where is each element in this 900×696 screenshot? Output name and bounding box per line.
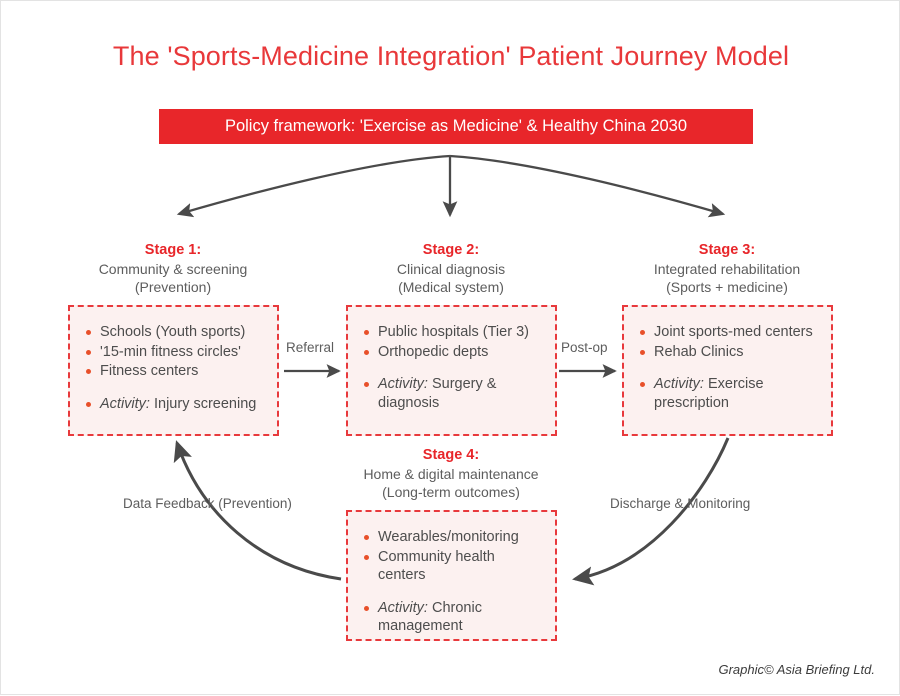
stage-3-subtitle-line2: (Sports + medicine) xyxy=(621,278,833,296)
connector-label-referral: Referral xyxy=(286,340,334,355)
connector-label-discharge: Discharge & Monitoring xyxy=(610,496,750,511)
stage-1-heading: Stage 1: Community & screening (Preventi… xyxy=(68,241,278,296)
stage-1-number: Stage 1: xyxy=(68,241,278,260)
list-item: Community health centers xyxy=(362,548,545,585)
stage-1-activity: Activity: Injury screening xyxy=(84,395,267,414)
stage-4-subtitle-line2: (Long-term outcomes) xyxy=(336,483,566,501)
list-item: Rehab Clinics xyxy=(638,343,821,362)
credit-line: Graphic© Asia Briefing Ltd. xyxy=(718,662,875,677)
list-item: Joint sports-med centers xyxy=(638,323,821,342)
arrow-stage4-to-stage1 xyxy=(177,443,341,579)
stage-4-number: Stage 4: xyxy=(336,446,566,465)
diagram-canvas: The 'Sports-Medicine Integration' Patien… xyxy=(0,0,900,695)
list-item: Wearables/monitoring xyxy=(362,528,545,547)
arrow-banner-to-stage3 xyxy=(450,156,723,214)
stage-3-heading: Stage 3: Integrated rehabilitation (Spor… xyxy=(621,241,833,296)
stage-2-heading: Stage 2: Clinical diagnosis (Medical sys… xyxy=(346,241,556,296)
activity-text: Injury screening xyxy=(150,396,256,412)
list-item: Orthopedic depts xyxy=(362,343,545,362)
stage-2-subtitle-line2: (Medical system) xyxy=(346,278,556,296)
policy-framework-banner: Policy framework: 'Exercise as Medicine'… xyxy=(159,109,753,144)
list-item: Fitness centers xyxy=(84,362,267,381)
connector-label-data-feedback: Data Feedback (Prevention) xyxy=(123,496,292,511)
list-item: '15-min fitness circles' xyxy=(84,343,267,362)
page-title: The 'Sports-Medicine Integration' Patien… xyxy=(1,41,900,72)
stage-3-activity: Activity: Exercise prescription xyxy=(638,375,821,412)
stage-4-subtitle-line1: Home & digital maintenance xyxy=(336,465,566,483)
activity-label: Activity: xyxy=(654,376,704,392)
stage-1-subtitle-line2: (Prevention) xyxy=(68,278,278,296)
stage-4-list: Wearables/monitoring Community health ce… xyxy=(362,528,545,636)
stage-2-activity: Activity: Surgery & diagnosis xyxy=(362,375,545,412)
stage-3-box[interactable]: Joint sports-med centers Rehab Clinics A… xyxy=(622,305,833,436)
policy-framework-label: Policy framework: 'Exercise as Medicine'… xyxy=(225,117,687,136)
stage-3-number: Stage 3: xyxy=(621,241,833,260)
arrow-banner-to-stage1 xyxy=(179,156,450,214)
activity-label: Activity: xyxy=(100,396,150,412)
stage-4-heading: Stage 4: Home & digital maintenance (Lon… xyxy=(336,446,566,501)
list-item: Public hospitals (Tier 3) xyxy=(362,323,545,342)
activity-label: Activity: xyxy=(378,600,428,616)
stage-1-subtitle-line1: Community & screening xyxy=(68,260,278,278)
activity-label: Activity: xyxy=(378,376,428,392)
stage-2-box[interactable]: Public hospitals (Tier 3) Orthopedic dep… xyxy=(346,305,557,436)
list-item: Schools (Youth sports) xyxy=(84,323,267,342)
stage-2-number: Stage 2: xyxy=(346,241,556,260)
stage-1-box[interactable]: Schools (Youth sports) '15-min fitness c… xyxy=(68,305,279,436)
stage-1-list: Schools (Youth sports) '15-min fitness c… xyxy=(84,323,267,413)
stage-4-box[interactable]: Wearables/monitoring Community health ce… xyxy=(346,510,557,641)
connector-label-post-op: Post-op xyxy=(561,340,608,355)
stage-2-list: Public hospitals (Tier 3) Orthopedic dep… xyxy=(362,323,545,412)
stage-4-activity: Activity: Chronic management xyxy=(362,599,545,636)
stage-3-list: Joint sports-med centers Rehab Clinics A… xyxy=(638,323,821,412)
stage-3-subtitle-line1: Integrated rehabilitation xyxy=(621,260,833,278)
stage-2-subtitle-line1: Clinical diagnosis xyxy=(346,260,556,278)
